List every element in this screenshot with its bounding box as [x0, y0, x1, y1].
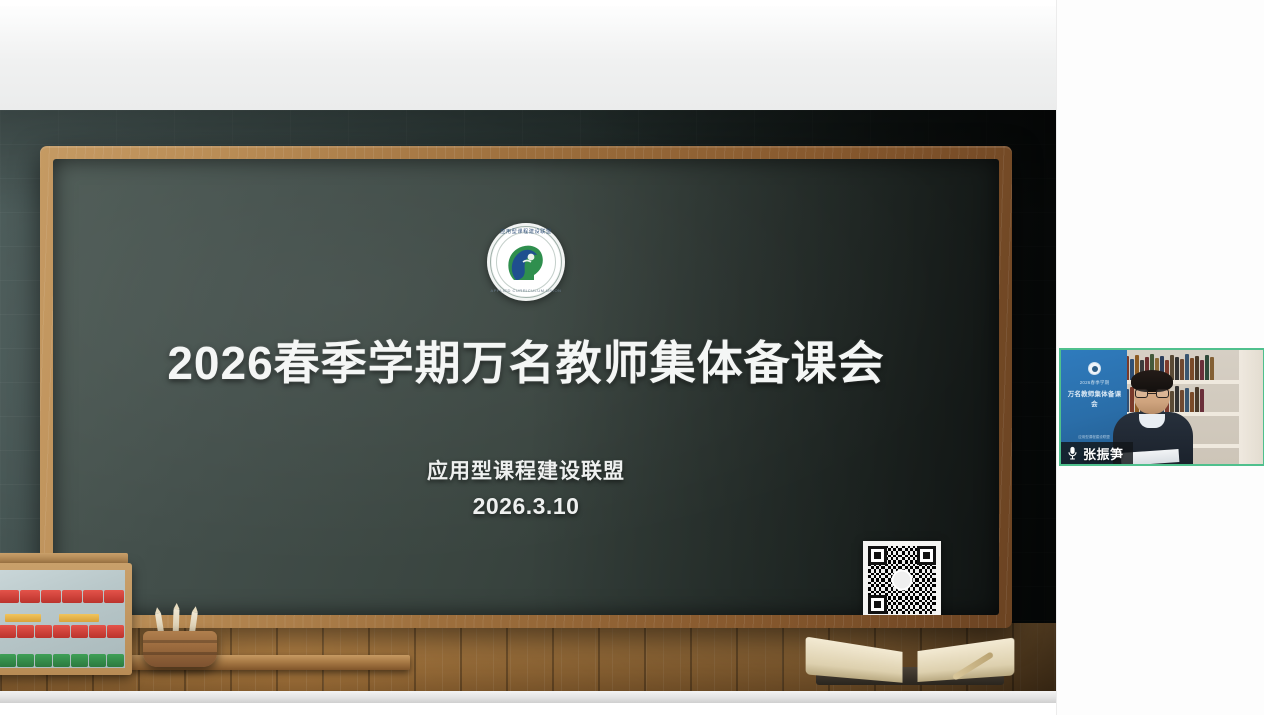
stage-bottom-edge — [0, 691, 1056, 703]
slide-content: 应用型课程建设联盟 APPLIED CURRICULUM UNION 2026春… — [53, 159, 999, 615]
slide-date: 2026.3.10 — [473, 493, 580, 520]
tile-emblem-icon — [1088, 362, 1101, 375]
blackboard-surface: 应用型课程建设联盟 APPLIED CURRICULUM UNION 2026春… — [53, 159, 999, 615]
qr-code[interactable] — [863, 541, 941, 615]
open-book-with-pencil — [810, 629, 1010, 685]
abacus-bead-row — [0, 590, 125, 603]
meeting-window: 应用型课程建设联盟 APPLIED CURRICULUM UNION 2026春… — [0, 0, 1264, 715]
participant-name: 张振笋 — [1083, 444, 1124, 463]
head-globe-emblem-icon: 应用型课程建设联盟 APPLIED CURRICULUM UNION — [487, 223, 565, 301]
abacus-bead-row — [0, 625, 125, 638]
microphone-icon[interactable] — [1067, 446, 1078, 460]
shared-screen-stage[interactable]: 应用型课程建设联盟 APPLIED CURRICULUM UNION 2026春… — [0, 110, 1056, 703]
emblem-inner-ring — [496, 232, 556, 292]
emblem-bottom-arc-text: APPLIED CURRICULUM UNION — [487, 289, 565, 293]
participant-video-tile[interactable]: 2026春季学期 万名教师集体备课会 应用型课程建设联盟 — [1059, 348, 1264, 466]
share-top-band — [0, 0, 1056, 110]
book-page-right — [918, 637, 1015, 682]
pencil-cup — [143, 611, 217, 667]
speaker-glasses — [1135, 389, 1169, 398]
speaker-collar — [1139, 414, 1165, 428]
qr-finder-bottom-left — [868, 595, 887, 614]
qr-modules — [868, 546, 936, 614]
abacus-chart-board — [0, 563, 132, 675]
slide-organization: 应用型课程建设联盟 — [427, 455, 625, 485]
abacus-panel — [0, 570, 125, 668]
blackboard-frame: 应用型课程建设联盟 APPLIED CURRICULUM UNION 2026春… — [40, 146, 1012, 628]
cup-pot — [143, 631, 217, 667]
shelf-wall-column — [1239, 350, 1264, 464]
qr-finder-top-right — [917, 546, 936, 565]
qr-finder-top-left — [868, 546, 887, 565]
tile-video-feed: 2026春季学期 万名教师集体备课会 应用型课程建设联盟 — [1061, 350, 1263, 464]
qr-center-logo — [894, 572, 911, 589]
abacus-bead-row — [0, 654, 125, 667]
abacus-frame — [0, 563, 132, 675]
emblem-top-arc-text: 应用型课程建设联盟 — [487, 230, 565, 235]
participant-rail: 2026春季学期 万名教师集体备课会 应用型课程建设联盟 — [1056, 0, 1264, 715]
participant-nameplate: 张振笋 — [1061, 442, 1133, 464]
slide-title: 2026春季学期万名教师集体备课会 — [167, 327, 884, 393]
